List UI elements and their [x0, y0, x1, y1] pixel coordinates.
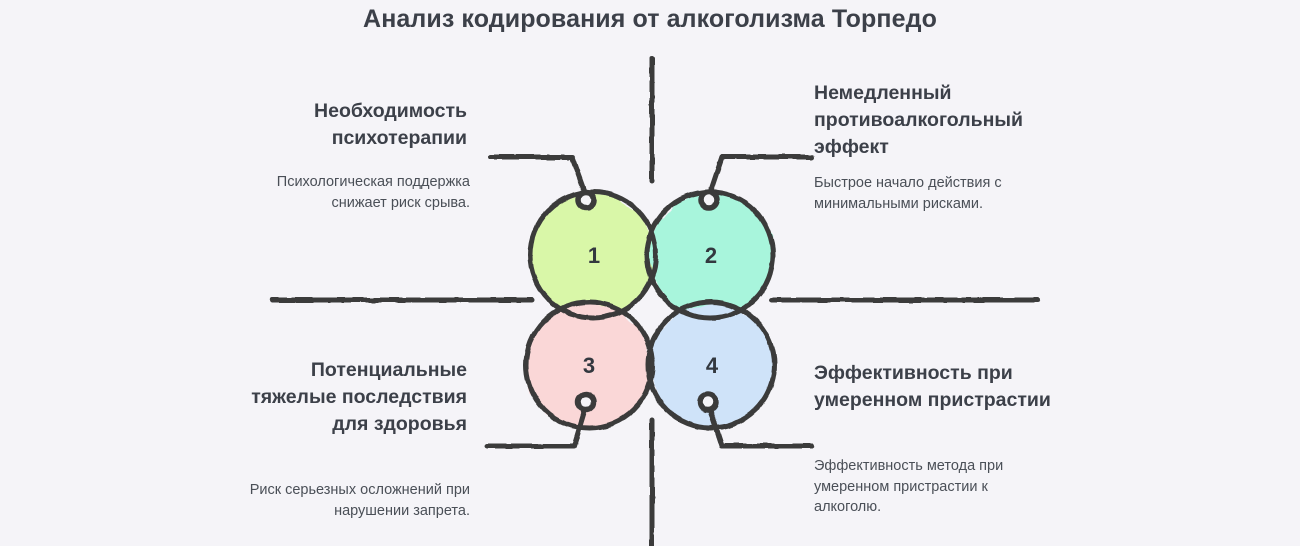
ring-marker-top-left[interactable]: [578, 192, 594, 208]
quadrant-label-top-left: Необходимость психотерапии: [245, 98, 467, 152]
circle-number-3: 3: [569, 353, 609, 379]
quadrant-description-bottom-right: Эффективность метода при умеренном прист…: [814, 456, 1029, 518]
quadrant-label-bottom-right: Эффективность при умеренном пристрастии: [814, 360, 1076, 414]
venn-diagram-graphic: [0, 0, 1300, 546]
connector-top-left: [490, 157, 586, 196]
circle-number-2: 2: [691, 243, 731, 269]
quadrant-description-top-right: Быстрое начало действия с минимальными р…: [814, 173, 1014, 214]
ring-marker-top-right[interactable]: [701, 192, 717, 208]
quadrant-label-bottom-left: Потенциальные тяжелые последствия для зд…: [245, 357, 467, 438]
ring-marker-bottom-left[interactable]: [578, 394, 594, 410]
circle-number-1: 1: [574, 243, 614, 269]
diagram-canvas: Анализ кодирования от алкоголизма Торпед…: [0, 0, 1300, 546]
ring-marker-bottom-right[interactable]: [700, 394, 716, 410]
quadrant-description-top-left: Психологическая поддержка снижает риск с…: [245, 172, 470, 213]
page-title: Анализ кодирования от алкоголизма Торпед…: [0, 5, 1300, 34]
quadrant-label-top-right: Немедленный противоалкогольный эффект: [814, 80, 1076, 161]
quadrant-description-bottom-left: Риск серьезных осложнений при нарушении …: [245, 480, 470, 521]
connector-top-right: [709, 157, 812, 196]
circle-number-4: 4: [692, 353, 732, 379]
